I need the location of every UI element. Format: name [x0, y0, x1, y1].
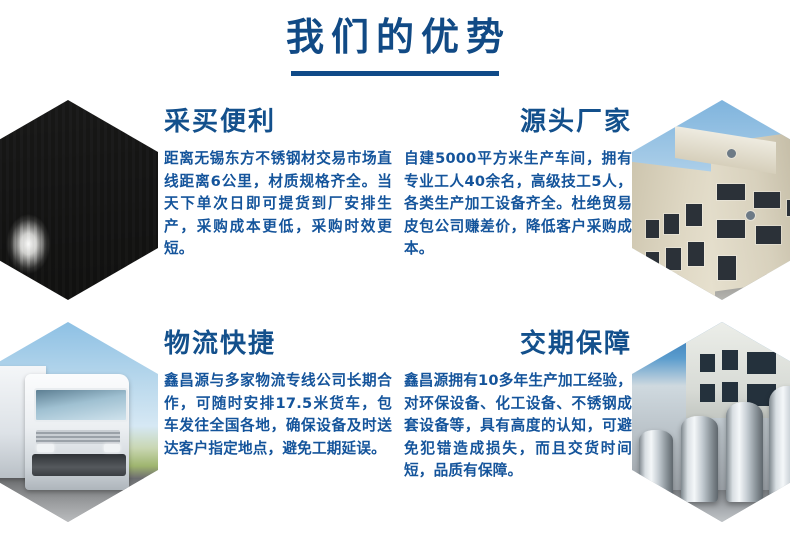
background-window	[700, 384, 714, 402]
feature-body: 鑫昌源与多家物流专线公司长期合作，可随时安排17.5米货车，包车发往全国各地，确…	[164, 370, 392, 460]
background-window	[722, 382, 738, 402]
feature-heading: 物流快捷	[164, 328, 392, 360]
building-logo-icon	[726, 148, 737, 159]
steel-tank	[639, 430, 673, 502]
truck-bumper	[32, 454, 126, 476]
feature-body: 鑫昌源拥有10多年生产加工经验，对环保设备、化工设备、不锈钢成套设备等，具有高度…	[404, 370, 632, 483]
building-window	[756, 226, 781, 244]
feature-text-block: 源头厂家 自建5000平方米生产车间，拥有专业工人40余名，高级技工5人，各类生…	[404, 106, 632, 261]
factory-building-photo	[632, 100, 790, 300]
building-window	[754, 192, 779, 208]
background-window	[747, 352, 776, 374]
steel-coils-image-content	[0, 100, 158, 300]
truck-windshield	[34, 388, 128, 422]
feature-text-block: 物流快捷 鑫昌源与多家物流专线公司长期合作，可随时安排17.5米货车，包车发往全…	[164, 328, 392, 460]
feature-body: 自建5000平方米生产车间，拥有专业工人40余名，高级技工5人，各类生产加工设备…	[404, 148, 632, 261]
building-window	[666, 248, 680, 270]
background-window	[700, 354, 714, 372]
stainless-steel-tanks-photo	[632, 322, 790, 522]
building-window	[688, 242, 704, 266]
feature-card-source-manufacturer: 源头厂家 自建5000平方米生产车间，拥有专业工人40余名，高级技工5人，各类生…	[395, 94, 790, 316]
building-entrance	[718, 256, 736, 280]
feature-text-block: 交期保障 鑫昌源拥有10多年生产加工经验，对环保设备、化工设备、不锈钢成套设备等…	[404, 328, 632, 483]
delivery-truck-image-content	[0, 322, 158, 522]
feature-card-delivery-guarantee: 交期保障 鑫昌源拥有10多年生产加工经验，对环保设备、化工设备、不锈钢成套设备等…	[395, 316, 790, 538]
stainless-steel-tanks-image-content	[632, 322, 790, 522]
steel-tank	[769, 386, 790, 502]
building-window	[717, 220, 746, 238]
title-underline-rule	[291, 71, 499, 76]
feature-heading: 交期保障	[404, 328, 632, 360]
page-title: 我们的优势	[0, 14, 790, 60]
factory-building-image-content	[632, 100, 790, 300]
building-window	[686, 204, 702, 226]
building-window	[646, 220, 659, 238]
building-window	[717, 184, 746, 200]
feature-card-fast-logistics: 物流快捷 鑫昌源与多家物流专线公司长期合作，可随时安排17.5米货车，包车发往全…	[0, 316, 395, 538]
steel-coils-photo	[0, 100, 158, 300]
feature-heading: 源头厂家	[404, 106, 632, 138]
feature-text-block: 采买便利 距离无锡东方不锈钢材交易市场直线距离6公里，材质规格齐全。当天下单次日…	[164, 106, 392, 261]
feature-heading: 采买便利	[164, 106, 392, 138]
truck-headlight	[104, 444, 120, 452]
building-window	[646, 252, 659, 272]
delivery-truck-photo	[0, 322, 158, 522]
page-header: 我们的优势	[0, 14, 790, 76]
building-window	[664, 214, 678, 234]
steel-tank	[681, 416, 719, 502]
truck-grille	[36, 430, 121, 444]
background-window	[722, 350, 738, 370]
truck-headlight	[37, 444, 53, 452]
steel-tank	[726, 402, 764, 502]
feature-body: 距离无锡东方不锈钢材交易市场直线距离6公里，材质规格齐全。当天下单次日即可提货到…	[164, 148, 392, 261]
feature-card-procurement-convenience: 采买便利 距离无锡东方不锈钢材交易市场直线距离6公里，材质规格齐全。当天下单次日…	[0, 94, 395, 316]
